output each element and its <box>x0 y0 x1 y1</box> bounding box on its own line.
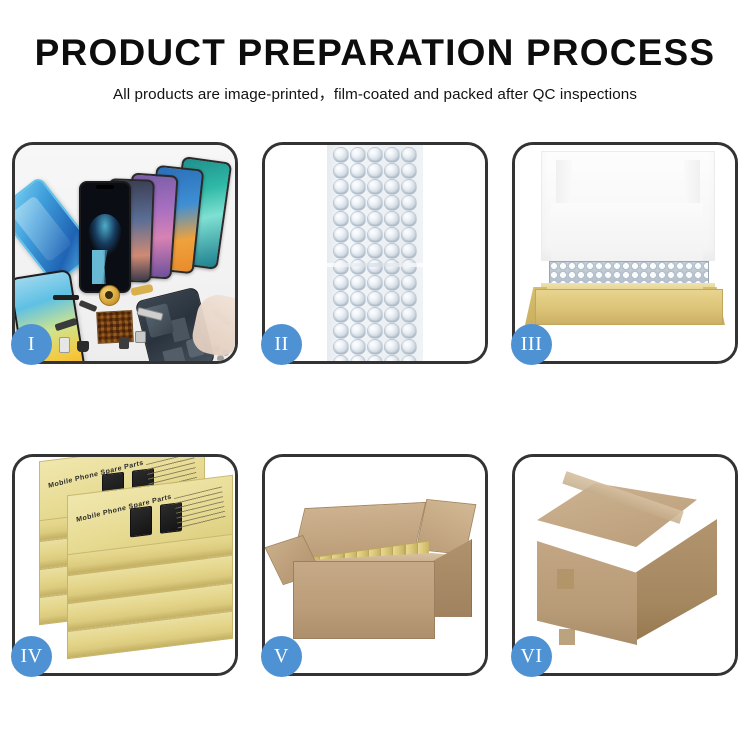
bubble <box>367 211 383 227</box>
phone-black-screen-graphic <box>79 181 131 293</box>
bubble <box>350 211 366 227</box>
bubble-grid <box>333 147 417 361</box>
bubble <box>350 179 366 195</box>
bubble <box>367 179 383 195</box>
bubble <box>350 339 366 355</box>
page-subtitle: All products are image-printed，film-coat… <box>0 82 750 104</box>
bubble <box>401 227 417 243</box>
bubble <box>401 179 417 195</box>
step-card-6[interactable]: VI <box>512 454 738 676</box>
bubble <box>333 179 349 195</box>
bubble <box>367 307 383 323</box>
page-header: PRODUCT PREPARATION PROCESS All products… <box>0 0 750 104</box>
bubble <box>367 243 383 259</box>
bubble <box>384 147 400 163</box>
page-title: PRODUCT PREPARATION PROCESS <box>0 34 750 73</box>
bubble <box>384 355 400 361</box>
bubble <box>367 195 383 211</box>
bubble-wrap-photo <box>265 145 485 361</box>
foam-sheet <box>551 203 703 261</box>
bubble <box>333 195 349 211</box>
bubble <box>401 291 417 307</box>
step-badge-6: VI <box>511 636 552 677</box>
bubble <box>367 275 383 291</box>
bubble <box>333 211 349 227</box>
inner-box-photo <box>515 145 735 361</box>
bubble <box>384 275 400 291</box>
bubble <box>333 323 349 339</box>
bubble <box>350 243 366 259</box>
bubble <box>350 227 366 243</box>
bubble <box>401 323 417 339</box>
coil-part-graphic <box>99 285 120 306</box>
flex-part-9 <box>79 300 98 312</box>
bubble <box>333 307 349 323</box>
pouch-seam <box>327 263 423 267</box>
step-badge-1: I <box>11 324 52 365</box>
bubble <box>367 147 383 163</box>
bubble <box>367 227 383 243</box>
step-badge-3: III <box>511 324 552 365</box>
bubble-wrap-pouch <box>327 145 423 361</box>
bubble <box>333 227 349 243</box>
mailer-front-panel <box>535 289 723 325</box>
bubble <box>350 147 366 163</box>
box-label-title-back: Mobile Phone Spare Parts <box>48 460 144 490</box>
box-label-text-lines-front <box>174 486 226 531</box>
process-step-grid: I II III <box>12 142 738 676</box>
flex-part-1 <box>53 295 79 300</box>
step-card-5[interactable]: V <box>262 454 488 676</box>
bubble <box>401 211 417 227</box>
bubble <box>333 291 349 307</box>
bubble <box>401 147 417 163</box>
bubble <box>384 291 400 307</box>
flex-part-8 <box>135 331 146 343</box>
sealed-carton-front <box>537 535 637 645</box>
bubble <box>401 163 417 179</box>
carton-front-panel <box>293 561 435 639</box>
box-label-image-front-1 <box>130 506 152 538</box>
open-carton-photo <box>265 457 485 673</box>
bubble <box>401 275 417 291</box>
bubble <box>367 163 383 179</box>
flex-part-7 <box>119 337 129 349</box>
bubble <box>367 291 383 307</box>
bubble <box>384 227 400 243</box>
bubble <box>367 355 383 361</box>
bubble <box>350 275 366 291</box>
bubble <box>401 243 417 259</box>
phone-notch <box>96 185 114 189</box>
bubble <box>333 275 349 291</box>
step-badge-5: V <box>261 636 302 677</box>
bubble <box>333 355 349 361</box>
bubble <box>333 243 349 259</box>
step-card-2[interactable]: II <box>262 142 488 364</box>
carton-mark-lower <box>559 629 575 645</box>
bubble <box>350 355 366 361</box>
step-card-1[interactable]: I <box>12 142 238 364</box>
bubble <box>384 243 400 259</box>
bubble <box>401 195 417 211</box>
flex-part-2 <box>130 284 153 296</box>
bubble <box>384 179 400 195</box>
step-badge-4: IV <box>11 636 52 677</box>
bubble <box>367 339 383 355</box>
bubble <box>384 163 400 179</box>
step-badge-2: II <box>261 324 302 365</box>
carton-mark-upper <box>557 569 574 589</box>
stacked-boxes-photo: Mobile Phone Spare Parts Mobile Phone Sp… <box>15 457 235 673</box>
sealed-carton-photo <box>515 457 735 673</box>
bubble <box>367 323 383 339</box>
step-card-3[interactable]: III <box>512 142 738 364</box>
bubble <box>401 355 417 361</box>
box-stack: Mobile Phone Spare Parts Mobile Phone Sp… <box>15 457 235 673</box>
step-card-4[interactable]: Mobile Phone Spare Parts Mobile Phone Sp… <box>12 454 238 676</box>
bubble <box>333 147 349 163</box>
box-label-title-front: Mobile Phone Spare Parts <box>76 494 172 524</box>
bubble <box>401 339 417 355</box>
bubble <box>350 291 366 307</box>
bubble <box>350 323 366 339</box>
bubble <box>333 163 349 179</box>
bubble <box>401 307 417 323</box>
bubble <box>333 339 349 355</box>
flex-part-6 <box>77 341 89 352</box>
bubble <box>384 307 400 323</box>
bubble <box>384 211 400 227</box>
flex-part-5 <box>59 337 70 353</box>
bubble <box>350 163 366 179</box>
bubble <box>384 195 400 211</box>
bubble <box>350 307 366 323</box>
bubble <box>384 323 400 339</box>
phone-parts-photo <box>15 145 235 361</box>
bubble <box>384 339 400 355</box>
bubble <box>350 195 366 211</box>
